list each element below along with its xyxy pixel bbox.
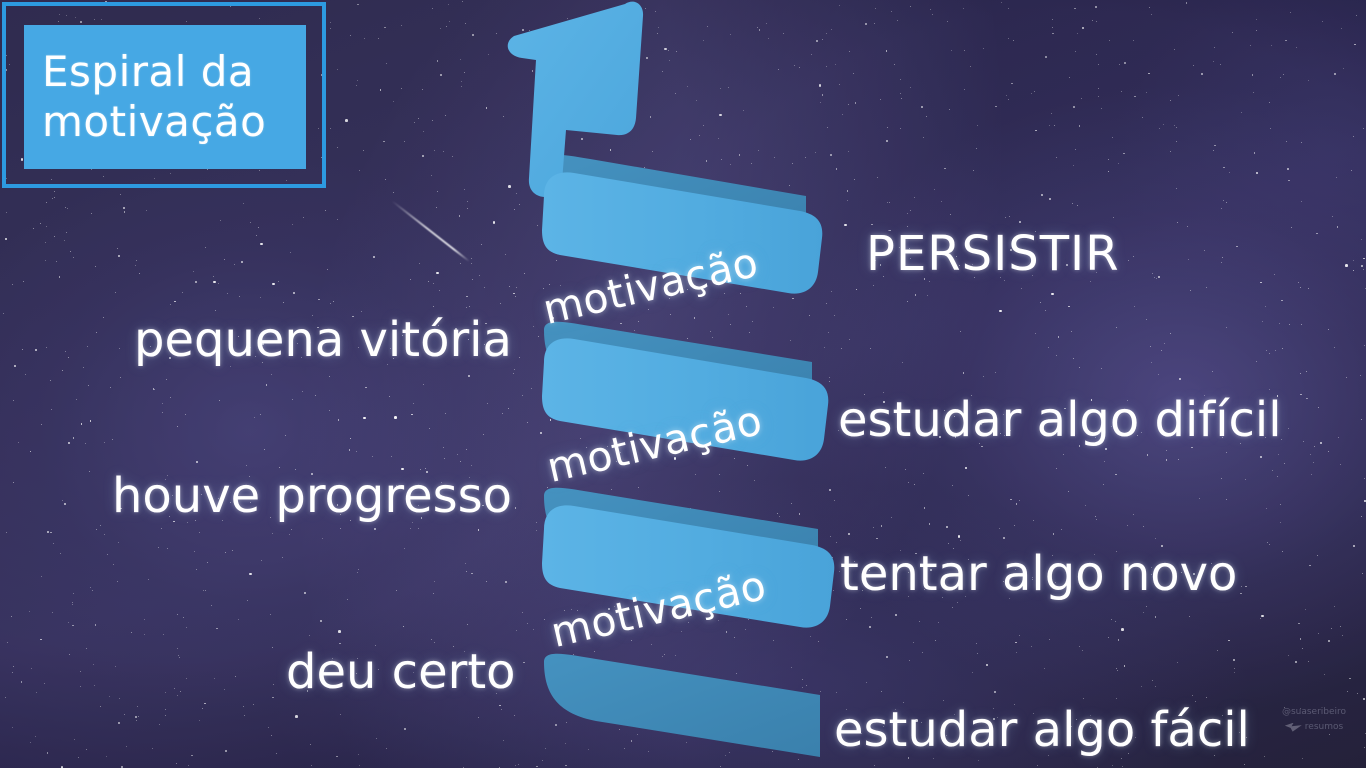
label-estudar-algo-facil: estudar algo fácil xyxy=(834,702,1250,758)
label-houve-progresso: houve progresso xyxy=(112,468,512,524)
label-persistir: PERSISTIR xyxy=(866,226,1120,282)
ribbon-front-bands xyxy=(542,172,834,627)
bird-icon xyxy=(1285,723,1302,732)
page-title-line-1: Espiral da xyxy=(42,47,306,97)
title-box: Espiral da motivação xyxy=(2,2,326,188)
label-tentar-algo-novo: tentar algo novo xyxy=(840,546,1237,602)
title-box-fill: Espiral da motivação xyxy=(24,25,306,169)
label-estudar-algo-dificil: estudar algo difícil xyxy=(838,392,1282,448)
label-deu-certo: deu certo xyxy=(286,644,516,700)
page-title-line-2: motivação xyxy=(42,97,306,147)
spiral-ribbon-graphic xyxy=(500,0,860,768)
slide-canvas: Espiral da motivação xyxy=(0,0,1366,768)
watermark-tagline: resumos xyxy=(1305,722,1343,733)
watermark-handle: @suaseribeiro xyxy=(1282,707,1346,718)
label-pequena-vitoria: pequena vitória xyxy=(134,312,512,368)
watermark: @suaseribeiro resumos xyxy=(1268,700,1360,740)
